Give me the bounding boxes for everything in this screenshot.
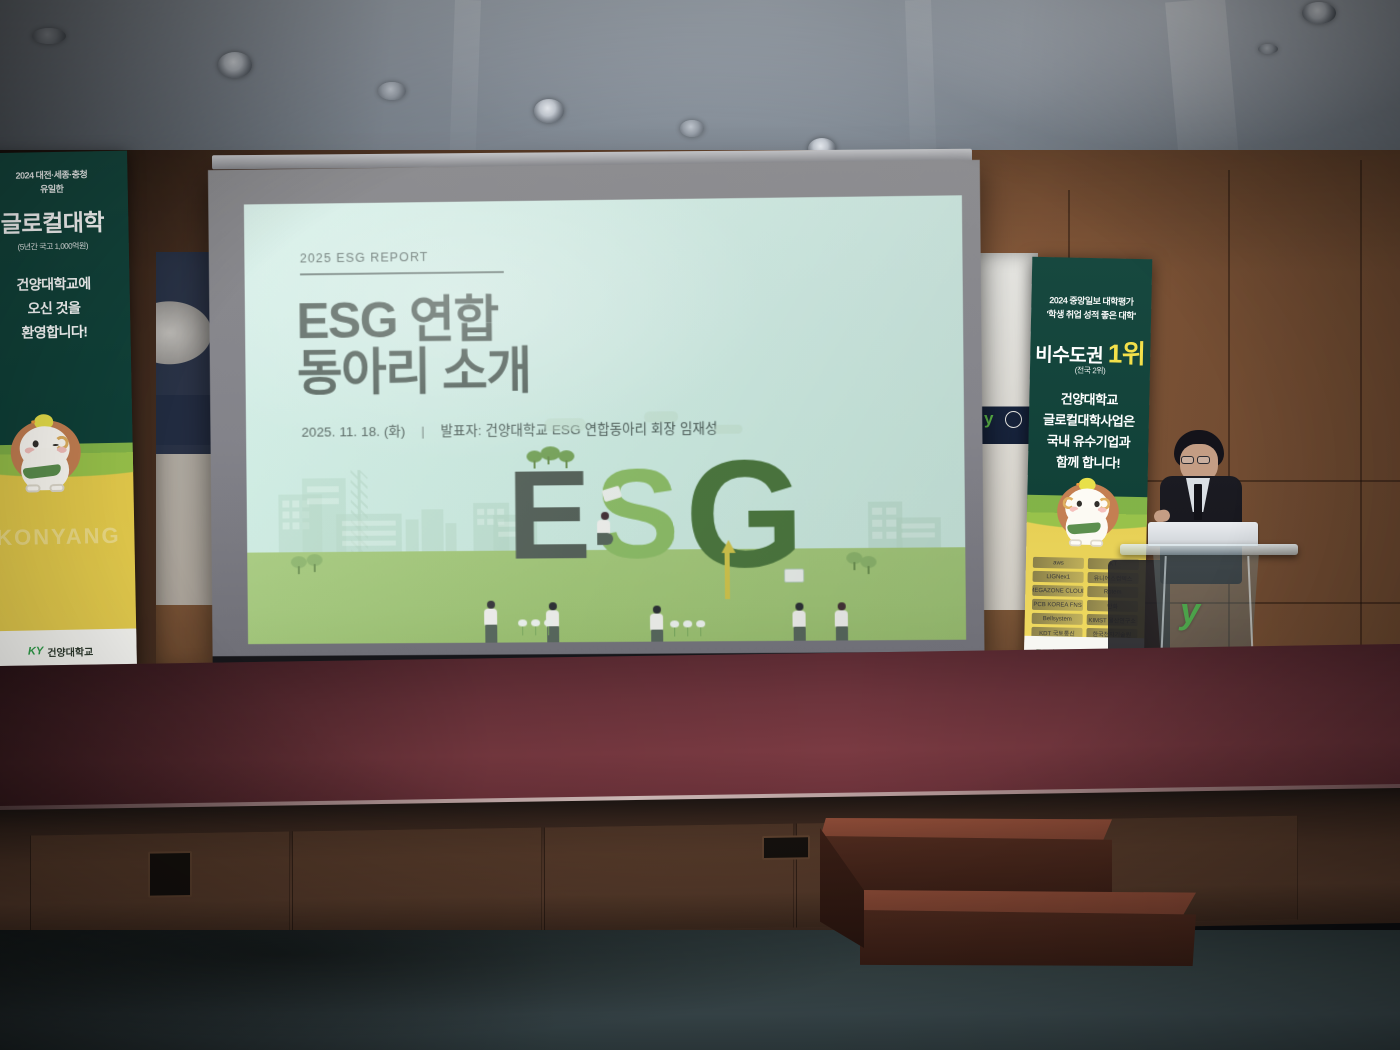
ceiling-downlight xyxy=(378,82,406,100)
y-logo-icon: y xyxy=(984,411,993,427)
banner-right-rank-label: 비수도권 xyxy=(1035,345,1103,367)
cloud-icon xyxy=(644,411,678,422)
slide-illustration: E S G xyxy=(246,408,966,644)
flower-cluster xyxy=(518,619,553,628)
esg-letter-g: G xyxy=(685,456,805,576)
wall-panel-seam xyxy=(1360,160,1362,710)
slide-title: ESG 연합 동아리 소개 xyxy=(296,293,531,399)
banner-left-line1: 2024 대전·세종·충청 xyxy=(0,169,128,183)
banner-left-welcome3: 환영합니다! xyxy=(0,323,131,342)
banner-left-watermark: KONYANG xyxy=(0,523,135,552)
mascot-sheep-left xyxy=(10,414,82,497)
banner-left: 2024 대전·세종·충청 유일한 글로컬대학 (5년간 국고 1,000억원)… xyxy=(0,151,137,674)
podium-laptop xyxy=(1148,522,1258,546)
ceiling-downlight xyxy=(32,28,66,44)
growth-arrow-stem xyxy=(725,551,730,599)
banner-right-rank-number: 1위 xyxy=(1108,338,1146,369)
banner-right-body4: 함께 합니다! xyxy=(1028,454,1148,472)
step-upper-riser xyxy=(820,836,1112,898)
cloud-icon xyxy=(544,418,586,431)
flower-cluster xyxy=(670,620,705,629)
banner-left-headline: 글로컬대학 xyxy=(0,209,129,239)
mascot-sheep-right xyxy=(1056,477,1119,550)
banner-right-rank-note: (전국 2위) xyxy=(1030,365,1150,377)
auditorium-scene: y 2024 대전·세종·충청 유일한 글로컬대학 (5년간 국고 1,000억… xyxy=(0,0,1400,1050)
glasses-icon xyxy=(1181,456,1194,464)
banner-right-body1: 건양대학교 xyxy=(1029,391,1149,409)
partner-logo: Bellsystem xyxy=(1032,613,1083,625)
slide-title-line2: 동아리 소개 xyxy=(297,345,531,399)
presentation-slide: 2025 ESG REPORT ESG 연합 동아리 소개 2025. 11. … xyxy=(244,195,966,644)
slide-kicker-rule xyxy=(300,271,504,275)
stage-panel xyxy=(292,827,542,935)
ceiling-downlight xyxy=(1258,44,1278,54)
banner-right-line1: 2024 중앙일보 대학평가 xyxy=(1031,295,1151,308)
projection-screen: 2025 ESG REPORT ESG 연합 동아리 소개 2025. 11. … xyxy=(208,160,985,663)
banner-right-body2: 글로컬대학사업은 xyxy=(1029,412,1149,430)
banner-left-footer-name: 건양대학교 xyxy=(47,643,93,659)
stage-vent xyxy=(762,835,810,860)
banner-left-note: (5년간 국고 1,000억원) xyxy=(0,241,129,253)
building-silhouette xyxy=(445,523,456,551)
university-seal-icon xyxy=(1005,411,1022,428)
mascot-foot xyxy=(1069,539,1082,546)
step-lower-riser xyxy=(860,910,1196,966)
partner-logo: MEGAZONE CLOUD xyxy=(1032,585,1083,597)
ceiling-downlight xyxy=(218,52,252,78)
podium-desktop xyxy=(1120,544,1298,555)
ceiling-downlight xyxy=(534,99,564,123)
ceiling-downlight xyxy=(1302,2,1336,24)
partner-logo: LIGNex1 xyxy=(1033,571,1084,583)
presenter-tie xyxy=(1194,484,1202,520)
partner-logo: aws xyxy=(1033,557,1084,569)
growth-arrow-icon xyxy=(721,540,735,553)
slide-title-line1: ESG 연합 xyxy=(296,293,530,347)
mascot-foot xyxy=(25,484,40,492)
mascot-eye xyxy=(33,440,39,447)
slide-kicker: 2025 ESG REPORT xyxy=(300,250,429,265)
ky-y-logo-icon: y xyxy=(1180,590,1200,632)
building-silhouette xyxy=(406,519,419,551)
laptop-icon xyxy=(784,568,804,582)
stage-vent xyxy=(148,851,192,898)
building-silhouette xyxy=(336,514,402,552)
banner-right-body3: 국내 유수기업과 xyxy=(1028,433,1148,451)
ky-logo-icon: KY xyxy=(28,645,44,657)
banner-left-line2: 유일한 xyxy=(0,183,128,197)
stage-panel xyxy=(544,824,794,932)
building-silhouette xyxy=(421,509,443,551)
building-silhouette xyxy=(896,517,941,547)
partner-logo: PCB KOREA FNS xyxy=(1032,599,1083,611)
banner-left-welcome1: 건양대학교에 xyxy=(0,275,130,294)
ceiling-downlight xyxy=(680,120,704,137)
banner-left-welcome2: 오신 것을 xyxy=(0,299,130,318)
glasses-icon xyxy=(1197,456,1210,464)
banner-right-line2: '학생 취업 성적 좋은 대학' xyxy=(1031,309,1151,322)
esg-letter-e: E xyxy=(507,466,592,565)
mascot-foot xyxy=(1090,540,1103,547)
mascot-foot xyxy=(49,484,64,492)
